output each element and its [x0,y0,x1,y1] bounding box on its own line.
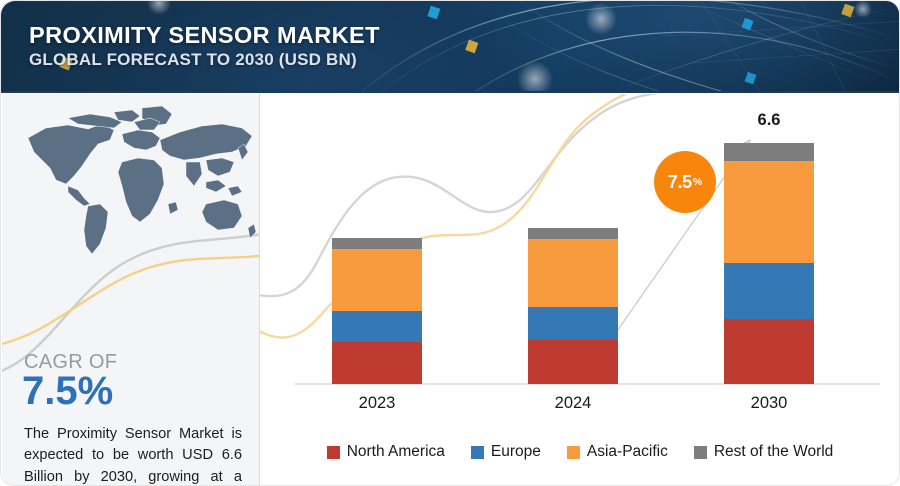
legend-swatch-asia-pacific [567,446,580,459]
cagr-value: 7.5% [22,369,113,414]
segment-rest-of-the-world-2030 [724,143,814,161]
segment-rest-of-the-world-2023 [332,238,422,249]
bar-value-2030: 6.6 [709,111,829,130]
segment-europe-2030 [724,263,814,319]
x-label-2024: 2024 [498,394,648,413]
infographic-card: PROXIMITY SENSOR MARKET GLOBAL FORECAST … [0,0,900,486]
cagr-callout-value: 7.5 [668,172,692,193]
segment-europe-2023 [332,311,422,342]
header-banner: PROXIMITY SENSOR MARKET GLOBAL FORECAST … [1,1,900,93]
legend-swatch-rest-of-the-world [694,446,707,459]
x-label-2030: 2030 [694,394,844,413]
left-panel: CAGR OF 7.5% The Proximity Sensor Market… [2,94,259,486]
segment-rest-of-the-world-2024 [528,228,618,239]
segment-asia-pacific-2023 [332,249,422,311]
segment-north-america-2024 [528,340,618,384]
chart-legend: North America Europe Asia-Pacific Rest o… [260,438,900,466]
cagr-callout-percent: % [693,176,702,188]
legend-swatch-europe [471,446,484,459]
legend-label-rest-of-the-world: Rest of the World [714,443,833,461]
bar-2023 [332,238,422,384]
stacked-bar-chart: 4.0 2023 4.3 2024 6.6 [260,94,900,486]
segment-asia-pacific-2030 [724,161,814,263]
page-title: PROXIMITY SENSOR MARKET [29,22,380,48]
world-map-icon [10,104,259,254]
segment-north-america-2023 [332,342,422,384]
page-subtitle: GLOBAL FORECAST TO 2030 (USD BN) [29,50,380,70]
legend-swatch-north-america [327,446,340,459]
legend-label-asia-pacific: Asia-Pacific [587,443,668,461]
market-description: The Proximity Sensor Market is expected … [24,424,242,486]
segment-europe-2024 [528,307,618,340]
legend-item-asia-pacific[interactable]: Asia-Pacific [567,443,668,461]
banner-underline [1,91,900,93]
segment-north-america-2030 [724,319,814,384]
x-label-2023: 2023 [302,394,452,413]
chart-area: 4.0 2023 4.3 2024 6.6 [260,94,900,486]
segment-asia-pacific-2024 [528,239,618,307]
legend-label-north-america: North America [347,443,445,461]
cagr-callout-bubble: 7.5 % [654,151,716,213]
legend-item-europe[interactable]: Europe [471,443,541,461]
legend-item-rest-of-the-world[interactable]: Rest of the World [694,443,833,461]
legend-label-europe: Europe [491,443,541,461]
legend-item-north-america[interactable]: North America [327,443,445,461]
bar-2024 [528,228,618,384]
bar-2030 [724,143,814,384]
